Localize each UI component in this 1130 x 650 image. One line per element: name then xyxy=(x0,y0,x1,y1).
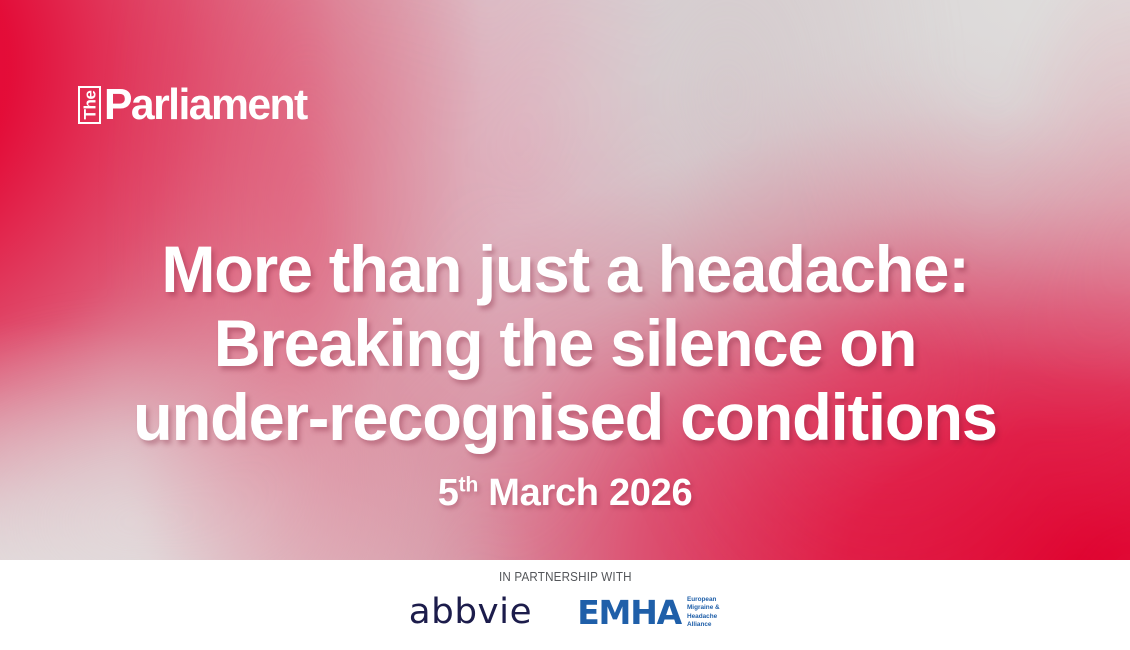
event-date: 5th March 2026 xyxy=(0,470,1130,516)
emha-logo[interactable]: EMHA European Migraine & Headache Allian… xyxy=(577,596,719,629)
emha-tagline-line-3: Headache xyxy=(687,613,720,621)
emha-logo-wordmark: EMHA xyxy=(577,596,681,629)
partner-footer: IN PARTNERSHIP WITH abbvie EMHA European… xyxy=(0,560,1130,650)
partner-logo-row: abbvie EMHA European Migraine & Headache… xyxy=(410,595,719,630)
abbvie-logo[interactable]: abbvie xyxy=(409,595,532,630)
emha-tagline-line-2: Migraine & xyxy=(687,604,720,612)
event-title-line-1: More than just a headache: xyxy=(8,232,1121,306)
emha-tagline-line-4: Alliance xyxy=(687,621,720,629)
event-banner: The Parliament More than just a headache… xyxy=(0,0,1130,650)
event-title-line-2: Breaking the silence on xyxy=(8,306,1121,380)
emha-logo-tagline: European Migraine & Headache Alliance xyxy=(687,596,720,629)
event-date-ordinal: th xyxy=(459,472,478,496)
emha-tagline-line-1: European xyxy=(687,596,720,604)
event-date-day: 5 xyxy=(438,472,459,514)
parliament-logo-the-text: The xyxy=(81,90,98,119)
event-title-line-3: under-recognised conditions xyxy=(8,380,1121,454)
parliament-logo[interactable]: The Parliament xyxy=(78,80,313,124)
event-date-rest: March 2026 xyxy=(478,472,692,514)
event-title: More than just a headache: Breaking the … xyxy=(8,232,1121,454)
partnership-kicker: IN PARTNERSHIP WITH xyxy=(499,570,632,584)
parliament-logo-the-box: The xyxy=(78,86,101,124)
parliament-logo-wordmark: Parliament xyxy=(104,86,307,124)
